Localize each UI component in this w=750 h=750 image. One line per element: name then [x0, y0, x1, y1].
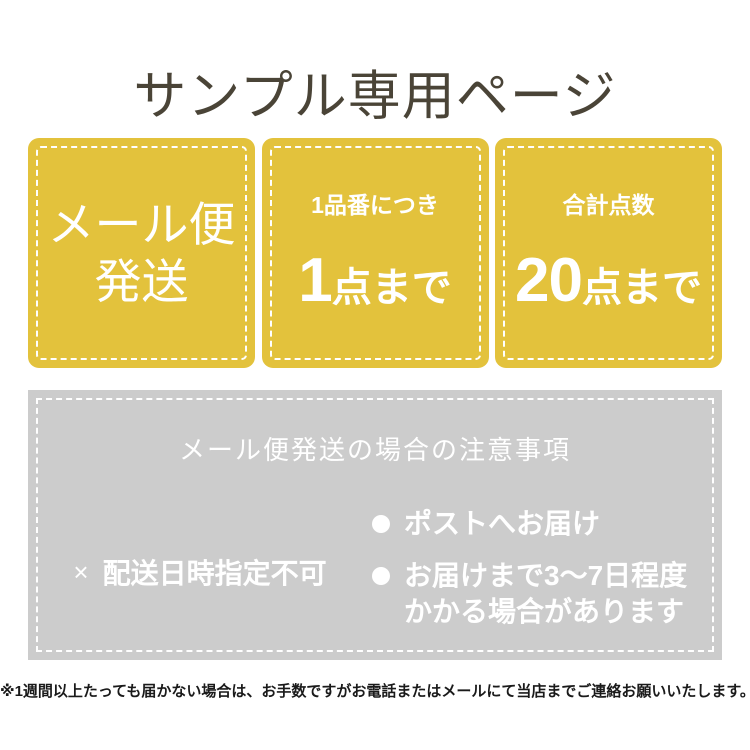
total-limit-value: 20 点まで [515, 253, 702, 316]
no-date-designation-label: 配送日時指定不可 [103, 552, 327, 592]
per-item-limit-value: 1 点まで [298, 253, 451, 316]
notice-heading: メール便発送の場合の注意事項 [28, 434, 722, 466]
bullet-text: お届けまで3〜7日程度 かかる場合があります [404, 558, 687, 630]
notice-item-no-date-designation: × 配送日時指定不可 [28, 502, 372, 642]
feature-box-shipping-method: メール便 発送 [28, 138, 255, 368]
feature-box-content: メール便 発送 [28, 138, 255, 368]
bullet-line-2: かかる場合があります [404, 594, 687, 630]
page-title: サンプル専用ページ [0, 64, 750, 130]
total-limit-number: 20 [515, 253, 582, 309]
feature-box-row: メール便 発送 1品番につき 1 点まで 合計点数 20 点まで [28, 138, 722, 368]
feature-box-total-limit: 合計点数 20 点まで [495, 138, 722, 368]
feature-box-content: 1品番につき 1 点まで [262, 138, 489, 368]
per-item-limit-number: 1 [298, 253, 331, 309]
footer-note: ※1週間以上たっても届かない場合は、お手数ですがお電話またはメールにて当店までご… [0, 682, 750, 702]
notice-panel: メール便発送の場合の注意事項 × 配送日時指定不可 ポストへお届け お届けまで3… [28, 390, 722, 660]
bullet-text: ポストへお届け [404, 506, 600, 542]
feature-box-content: 合計点数 20 点まで [495, 138, 722, 368]
total-limit-caption: 合計点数 [563, 191, 655, 219]
cross-icon: × [73, 557, 88, 588]
total-limit-unit: 点まで [582, 260, 702, 316]
shipping-method-line1: メール便 [48, 196, 236, 253]
per-item-limit-caption: 1品番につき [311, 191, 439, 219]
list-item: お届けまで3〜7日程度 かかる場合があります [372, 558, 722, 630]
notice-bullet-list: ポストへお届け お届けまで3〜7日程度 かかる場合があります [372, 502, 722, 630]
bullet-dot-icon [372, 567, 390, 585]
bullet-dot-icon [372, 515, 390, 533]
bullet-line-1: お届けまで3〜7日程度 [404, 560, 687, 591]
notice-body: × 配送日時指定不可 ポストへお届け お届けまで3〜7日程度 かかる場合がありま… [28, 502, 722, 642]
feature-box-per-item-limit: 1品番につき 1 点まで [262, 138, 489, 368]
bullet-line-1: ポストへお届け [404, 508, 600, 539]
list-item: ポストへお届け [372, 506, 722, 542]
shipping-method-line2: 発送 [95, 253, 189, 310]
per-item-limit-unit: 点まで [332, 260, 452, 316]
